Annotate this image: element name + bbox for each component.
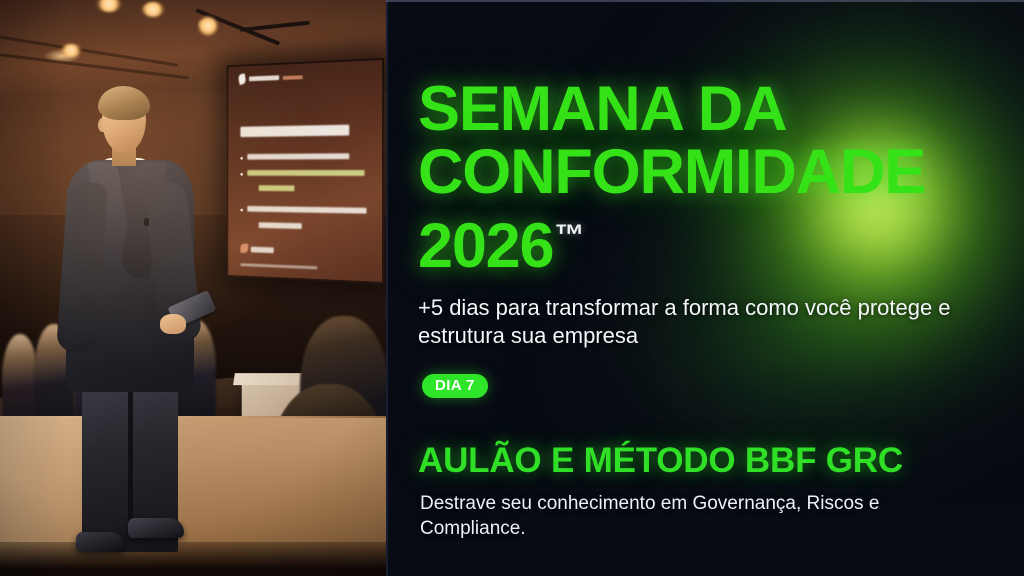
ceiling-spotlight-icon — [198, 16, 218, 36]
ceiling-spotlight-icon — [96, 0, 122, 12]
bullet-text — [247, 153, 349, 159]
session-headline: AULÃO E MÉTODO BBF GRC — [418, 441, 998, 481]
slide-footer-logo-icon — [240, 243, 248, 253]
speaker-hand — [160, 314, 186, 334]
event-photo — [0, 0, 388, 576]
speaker-shoe-left — [76, 532, 124, 552]
presentation-screen — [227, 58, 384, 284]
speaker-hair — [98, 86, 150, 120]
day-badge: DIA 7 — [422, 374, 488, 398]
event-title-line-3: 2026 — [418, 211, 553, 281]
bullet-text — [259, 222, 302, 229]
bullet-dot-icon — [240, 209, 243, 212]
bullet-text — [247, 170, 364, 176]
event-title-line-1: SEMANA DA — [418, 74, 786, 144]
ceiling-spotlight-icon — [141, 2, 165, 17]
trademark-symbol: ™ — [554, 219, 584, 252]
speaker-leg-gap — [128, 386, 133, 536]
promo-banner: SEMANA DACONFORMIDADE2026™ +5 dias para … — [0, 0, 1024, 576]
slide-bullet — [240, 153, 349, 159]
speaker-figure — [52, 86, 212, 556]
audience-member — [2, 334, 38, 426]
logo-wordmark — [249, 75, 279, 81]
bullet-dot-icon — [240, 173, 243, 176]
event-title-line-2: CONFORMIDADE — [418, 137, 925, 207]
lighting-rail — [240, 21, 310, 32]
text-content: SEMANA DACONFORMIDADE2026™ +5 dias para … — [418, 0, 1018, 576]
bullet-text — [259, 185, 295, 191]
ceiling-spotlight-icon — [60, 44, 82, 57]
logo-mark-icon — [238, 73, 247, 85]
ceiling-beam-line — [0, 52, 189, 79]
logo-tagline — [283, 75, 303, 80]
event-title: SEMANA DACONFORMIDADE2026™ — [418, 78, 998, 278]
event-subtitle: +5 dias para transformar a forma como vo… — [418, 294, 974, 350]
panel-left-edge — [386, 0, 388, 576]
slide-bullet-wrap — [259, 222, 302, 229]
lapel-microphone-icon — [144, 218, 149, 226]
session-description: Destrave seu conhecimento em Governança,… — [420, 491, 980, 541]
speaker-shoe-right — [128, 518, 184, 538]
slide-footer-text — [251, 247, 274, 253]
bullet-dot-icon — [240, 157, 243, 160]
slide-bullet — [240, 170, 364, 176]
ceiling-beam-line — [0, 34, 178, 67]
slide-heading-text — [240, 125, 349, 137]
slide-bullet-wrap — [259, 185, 295, 191]
